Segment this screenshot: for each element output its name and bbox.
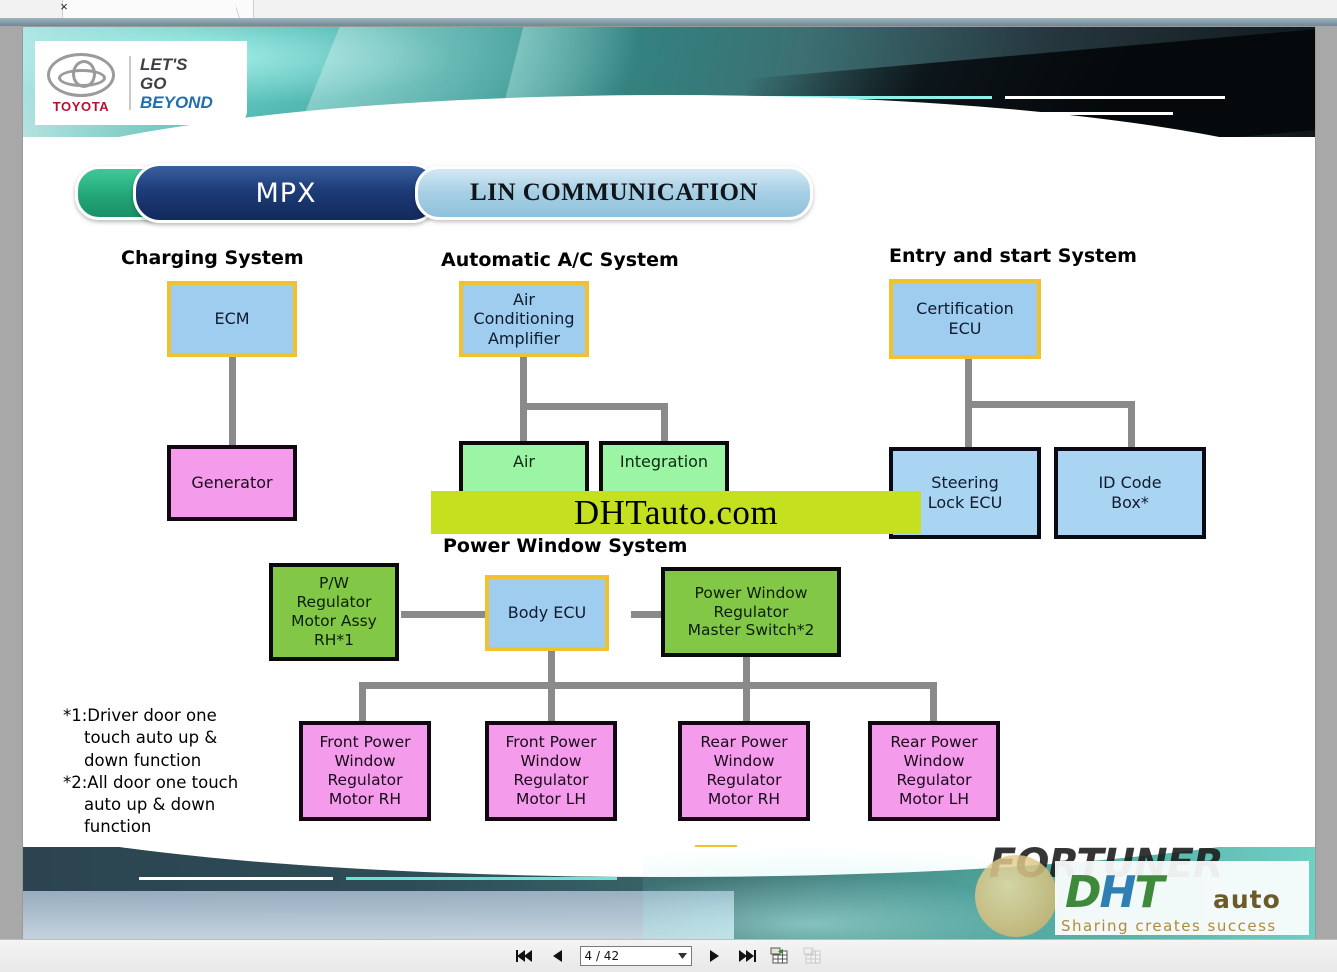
- node-pw-regulator-motor-assy-rh: P/W Regulator Motor Assy RH*1: [269, 563, 399, 661]
- application-window: × TOYOTA LET'S GO BEYOND: [0, 0, 1337, 972]
- chevron-down-icon: [678, 953, 687, 959]
- wire-ac-bus: [520, 403, 668, 410]
- footer-pale-block: [23, 891, 734, 939]
- document-page: TOYOTA LET'S GO BEYOND MPX LIN COMMUNICA…: [22, 26, 1316, 940]
- section-title-entry: Entry and start System: [889, 245, 1137, 267]
- node-certification-ecu: Certification ECU: [889, 279, 1041, 359]
- dht-logo-t: T: [1134, 867, 1162, 918]
- dht-logo-d: D: [1065, 867, 1100, 918]
- page-number-select[interactable]: 4 / 42: [580, 946, 692, 966]
- node-power-window-regulator-master-switch: Power Window Regulator Master Switch*2: [661, 567, 841, 657]
- tab-edge: [236, 0, 254, 18]
- node-generator: Generator: [167, 445, 297, 521]
- node-rear-pw-motor-lh: Rear Power Window Regulator Motor LH: [868, 721, 1000, 821]
- page-navigation-toolbar: 4 / 42: [0, 939, 1337, 972]
- section-title-ac: Automatic A/C System: [441, 249, 679, 271]
- node-rear-pw-motor-rh: Rear Power Window Regulator Motor RH: [678, 721, 810, 821]
- footer-accent-line-white: [139, 877, 333, 880]
- wire-pw-left-link: [401, 611, 491, 618]
- node-air-conditioning-amplifier: Air Conditioning Amplifier: [459, 281, 589, 357]
- wire-cert-down: [965, 357, 972, 405]
- previous-page-icon[interactable]: [547, 945, 569, 967]
- dht-slogan: Sharing creates success: [1061, 917, 1277, 935]
- next-page-icon[interactable]: [703, 945, 725, 967]
- node-body-ecu: Body ECU: [485, 575, 609, 651]
- wire-entry-bus: [965, 401, 1135, 408]
- page-number-value: 4 / 42: [585, 949, 620, 963]
- watermark-banner: DHTauto.com: [431, 491, 921, 534]
- wire-pw-bus: [359, 682, 937, 689]
- node-front-pw-motor-rh: Front Power Window Regulator Motor RH: [299, 721, 431, 821]
- brand-badge: FORTUNER DHT auto Sharing creates succes…: [969, 837, 1309, 937]
- node-id-code-box: ID Code Box*: [1054, 447, 1206, 539]
- node-front-pw-motor-lh: Front Power Window Regulator Motor LH: [485, 721, 617, 821]
- export-table-icon[interactable]: [769, 946, 791, 966]
- sun-circle-icon: [975, 855, 1057, 937]
- watermark-text: DHTauto.com: [574, 493, 778, 533]
- footer-accent-line-cyan: [346, 877, 617, 880]
- lin-communication-diagram: Charging System ECM Generator Automatic …: [23, 27, 1315, 939]
- section-title-power-window: Power Window System: [443, 535, 687, 557]
- dht-logo: DHT: [1065, 867, 1162, 918]
- dht-logo-auto: auto: [1213, 885, 1281, 914]
- export-table-disabled-icon: [802, 946, 824, 966]
- window-top-rule: [0, 18, 1337, 26]
- node-ecm: ECM: [167, 281, 297, 357]
- footnotes: *1:Driver door one touch auto up & down …: [63, 705, 313, 839]
- document-tab[interactable]: [62, 0, 254, 18]
- first-page-icon[interactable]: [514, 945, 536, 967]
- dht-logo-h: H: [1100, 867, 1135, 918]
- tab-strip: ×: [0, 0, 1337, 18]
- last-page-icon[interactable]: [736, 945, 758, 967]
- close-icon[interactable]: ×: [56, 0, 72, 16]
- wire-acamp-down: [520, 355, 527, 407]
- section-title-charging: Charging System: [121, 247, 304, 269]
